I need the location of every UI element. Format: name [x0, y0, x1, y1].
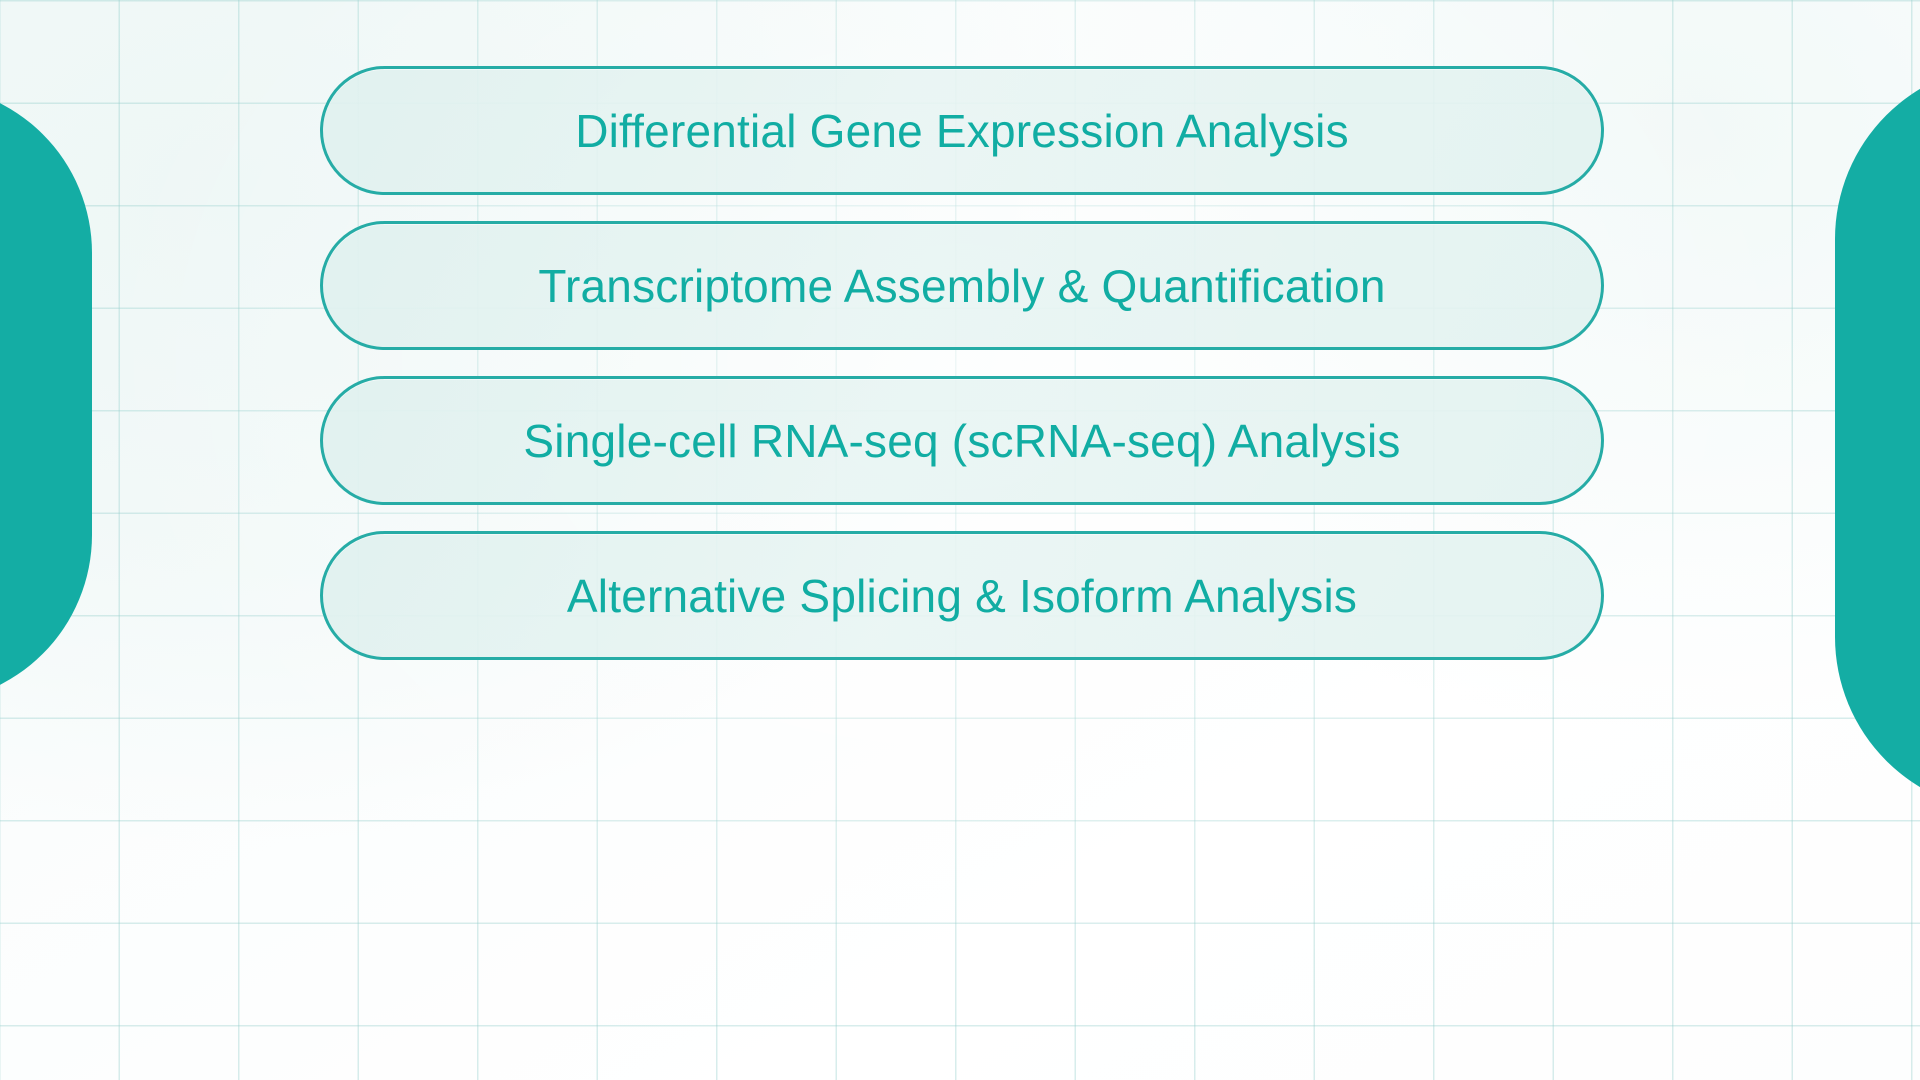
teal-rounded-shape-right	[1835, 64, 1920, 812]
topic-pill-list: Differential Gene Expression Analysis Tr…	[320, 66, 1604, 686]
topic-pill-4[interactable]: Alternative Splicing & Isoform Analysis	[320, 531, 1604, 660]
topic-pill-2-label: Transcriptome Assembly & Quantification	[538, 263, 1385, 309]
topic-pill-3-label: Single-cell RNA-seq (scRNA-seq) Analysis	[523, 418, 1400, 464]
teal-rounded-shape-left	[0, 85, 92, 703]
slide-canvas: Differential Gene Expression Analysis Tr…	[0, 0, 1920, 1080]
topic-pill-4-label: Alternative Splicing & Isoform Analysis	[567, 573, 1357, 619]
topic-pill-3[interactable]: Single-cell RNA-seq (scRNA-seq) Analysis	[320, 376, 1604, 505]
topic-pill-1-label: Differential Gene Expression Analysis	[575, 108, 1349, 154]
topic-pill-2[interactable]: Transcriptome Assembly & Quantification	[320, 221, 1604, 350]
topic-pill-1[interactable]: Differential Gene Expression Analysis	[320, 66, 1604, 195]
